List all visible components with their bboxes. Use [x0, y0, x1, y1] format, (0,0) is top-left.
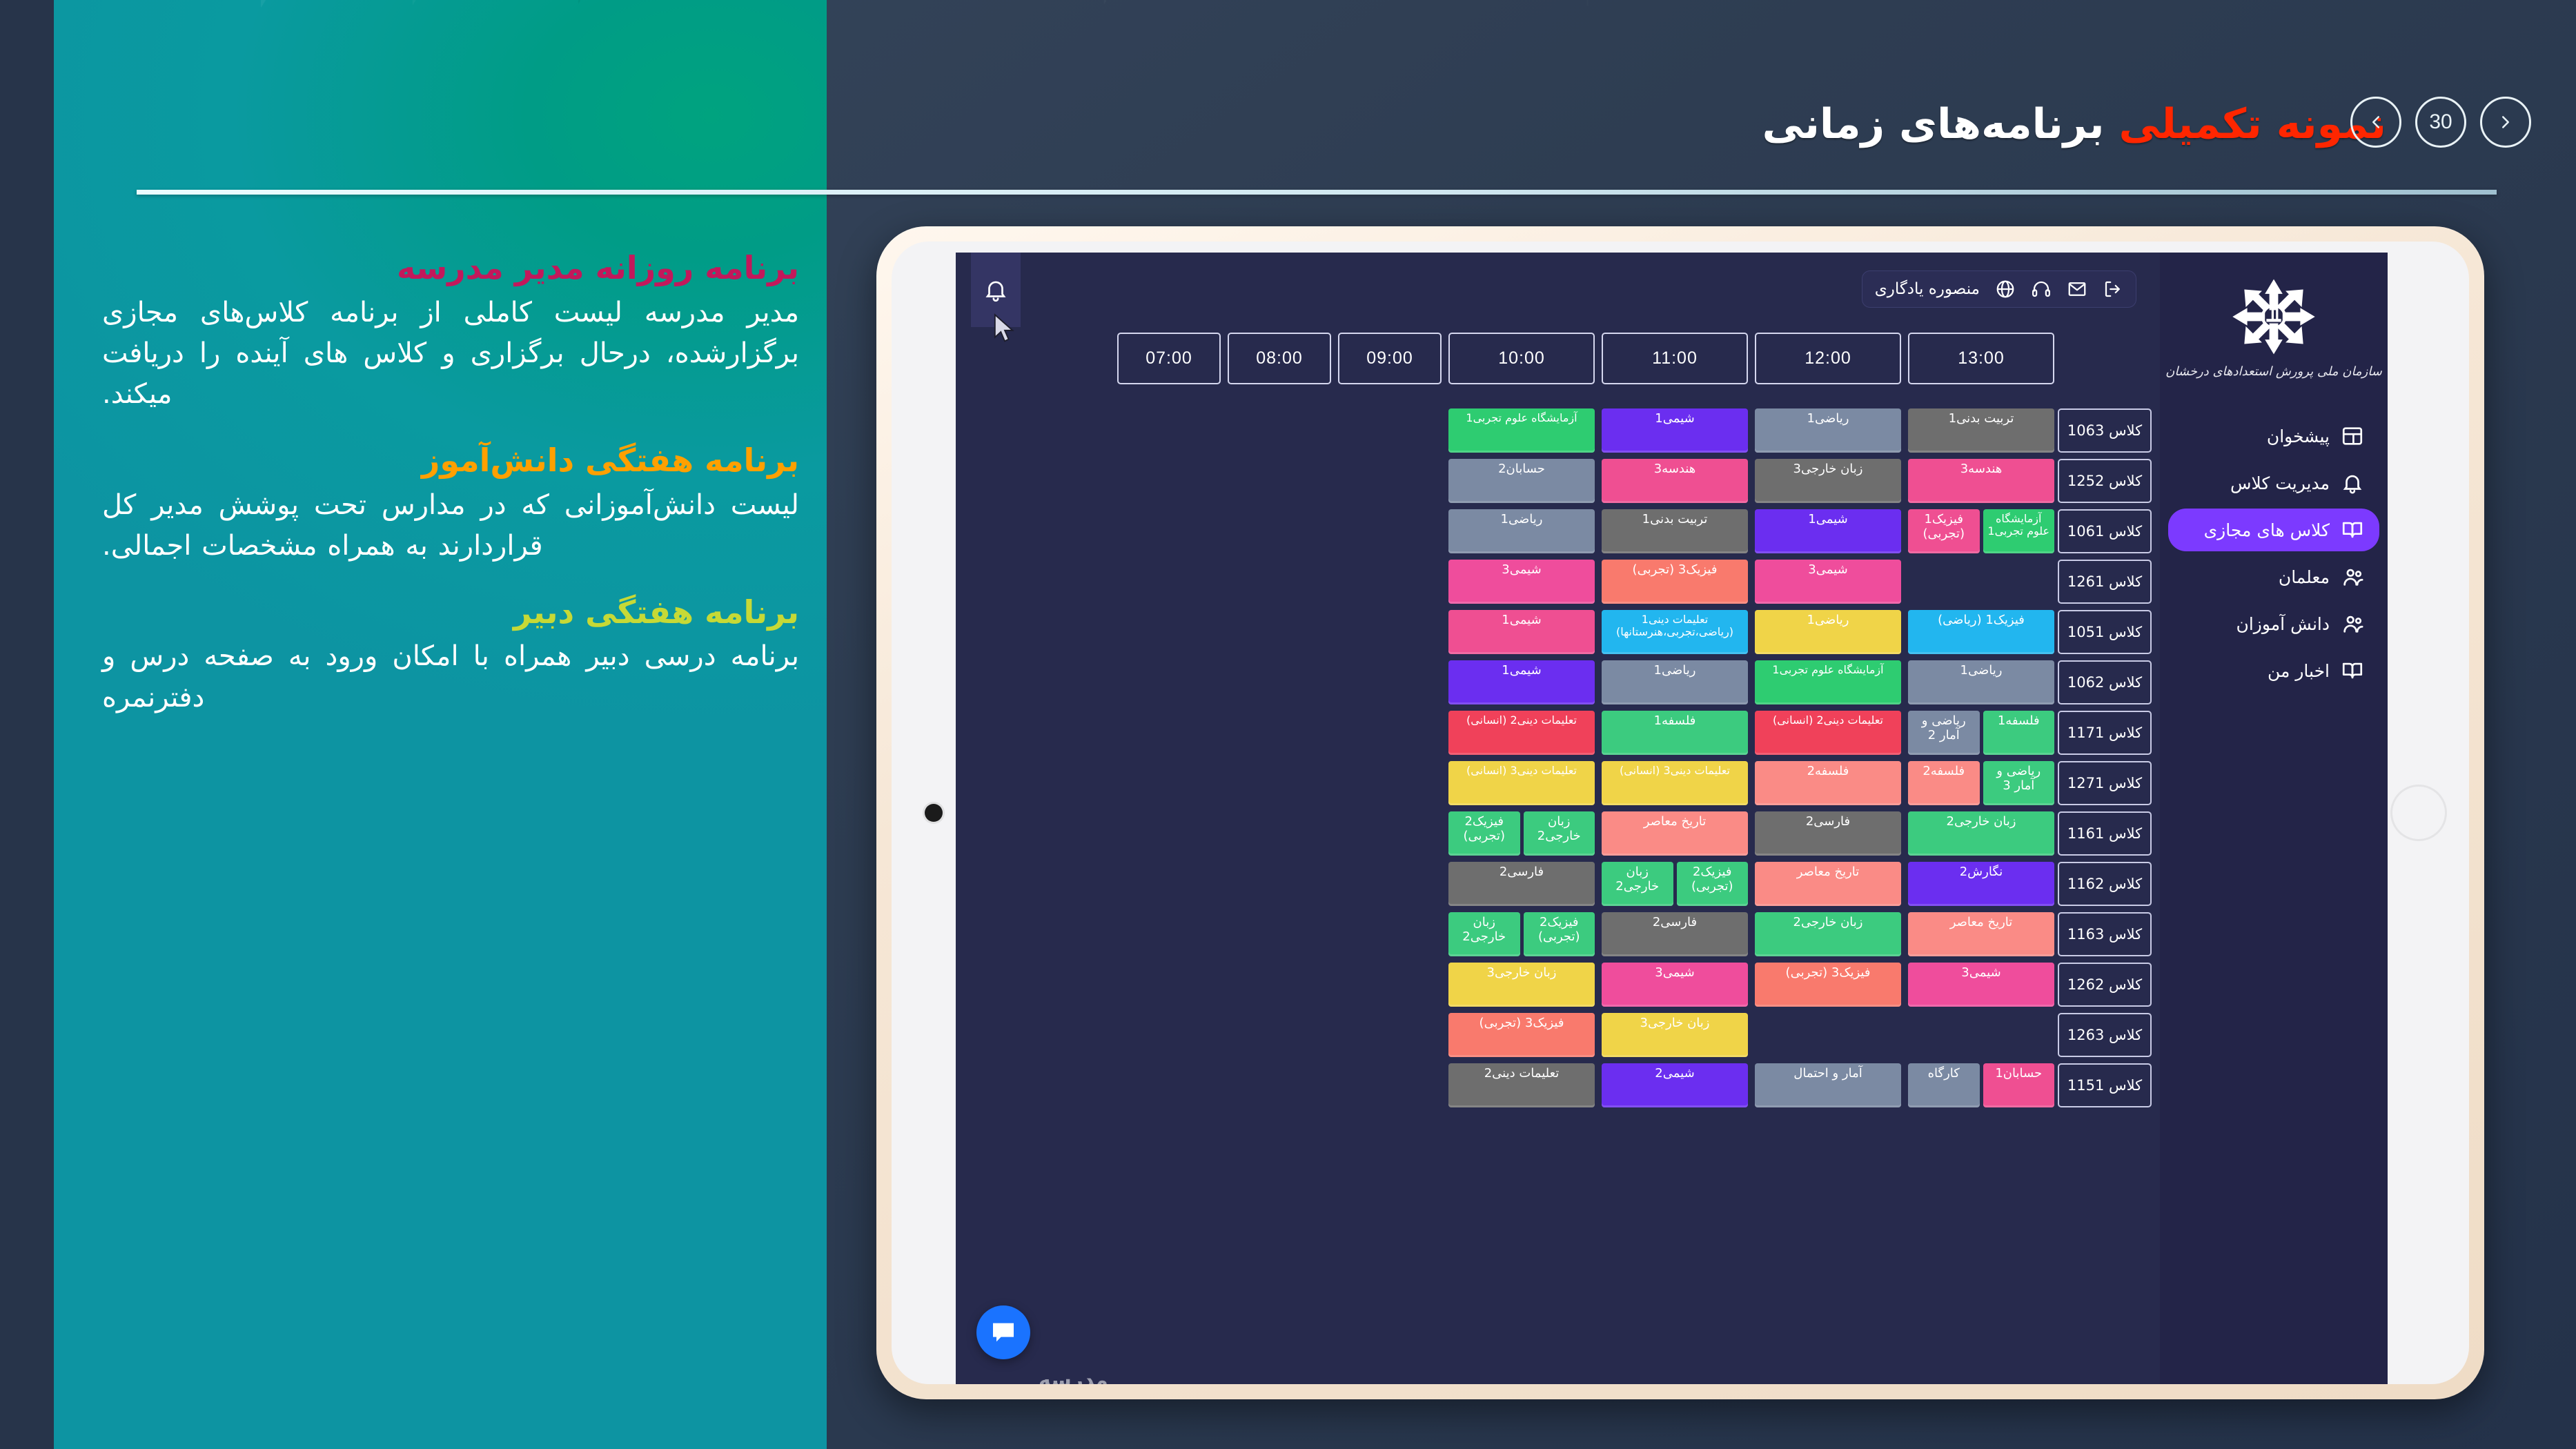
section-body: برنامه درسی دبیر همراه با امکان ورود به … [102, 636, 799, 718]
schedule-row-slot: زبان خارجی3 [1448, 963, 1595, 1007]
schedule-event[interactable]: شیمی2 [1602, 1063, 1748, 1107]
schedule-event[interactable]: تعلیمات دینی1 (ریاضی،تجربی،هنرستانها) [1602, 610, 1748, 654]
schedule-row-slot: هندسه3 [1908, 459, 2054, 503]
schedule-row-slot [1117, 509, 1221, 553]
empty-slot[interactable] [1228, 459, 1331, 503]
title-divider [137, 190, 2497, 195]
sidebar-item-my-news[interactable]: اخبار من [2168, 649, 2379, 692]
schedule-row-slot [1338, 811, 1442, 856]
time-header[interactable]: 10:00 [1448, 333, 1595, 384]
class-number-cell[interactable]: کلاس 1061 [2058, 509, 2152, 553]
schedule-row-slot [1117, 408, 1221, 453]
home-button[interactable] [925, 804, 943, 822]
empty-slot[interactable] [1338, 912, 1442, 956]
schedule-row-slot [1117, 811, 1221, 856]
watermark-text: مدرسه [1039, 1368, 1108, 1384]
schedule-row-slot [1228, 862, 1331, 906]
empty-slot[interactable] [1117, 862, 1221, 906]
empty-slot[interactable] [1228, 560, 1331, 604]
org-logo-block: سازمان ملی پرورش استعدادهای درخشان [2160, 272, 2388, 402]
sidebar-item-label: معلمان [2279, 567, 2330, 587]
section-heading: برنامه هفتگی دانش‌آموز [102, 441, 799, 481]
time-header[interactable]: 11:00 [1602, 333, 1748, 384]
empty-slot[interactable] [1117, 660, 1221, 704]
section-student-weekly: برنامه هفتگی دانش‌آموز لیست دانش‌آموزانی… [102, 441, 799, 566]
schedule-row-slot [1908, 1013, 2054, 1057]
sidebar-item-label: اخبار من [2268, 661, 2330, 681]
schedule-event[interactable]: هندسه3 [1908, 459, 2054, 503]
schedule-event[interactable]: زبان خارجی2 [1448, 912, 1520, 956]
schedule-row-slot: فیزیک3 (تجربی) [1602, 560, 1748, 604]
schedule-row-slot: ریاضی1 [1755, 610, 1901, 654]
schedule-event[interactable]: شیمی3 [1448, 560, 1595, 604]
schedule-row-slot: تعلیمات دینی2 (انسانی) [1448, 711, 1595, 755]
class-number-cell[interactable]: کلاس 1151 [2058, 1063, 2152, 1107]
schedule-event[interactable]: شیمی1 [1602, 408, 1748, 453]
empty-slot[interactable] [1338, 711, 1442, 755]
class-number-cell[interactable]: کلاس 1163 [2058, 912, 2152, 956]
empty-slot[interactable] [1338, 459, 1442, 503]
sidebar-item-label: پیشخوان [2267, 426, 2330, 446]
tablet-device-frame: سازمان ملی پرورش استعدادهای درخشان پیشخو… [876, 226, 2484, 1399]
schedule-row-slot: فلسفه1ریاضی و آمار 2 [1908, 711, 2054, 755]
left-edge-strip [0, 0, 54, 1449]
org-logo-caption: سازمان ملی پرورش استعدادهای درخشان [2160, 364, 2388, 379]
empty-slot[interactable] [1338, 509, 1442, 553]
schedule-row-slot: شیمی3 [1448, 560, 1595, 604]
schedule-event[interactable]: فلسفه1 [1983, 711, 2055, 755]
pagination-controls[interactable]: 30 [2350, 97, 2531, 148]
schedule-row-slot [1117, 459, 1221, 503]
schedule-event[interactable]: فارسی2 [1602, 912, 1748, 956]
schedule-row-slot: فلسفه2 [1755, 761, 1901, 805]
schedule-event[interactable]: تاریخ معاصر [1908, 912, 2054, 956]
org-logo-icon [2230, 276, 2318, 357]
empty-slot[interactable] [1228, 963, 1331, 1007]
sidebar-item-class-management[interactable]: مدیریت کلاس [2168, 462, 2379, 504]
schedule-row-slot [1338, 862, 1442, 906]
time-slot-column: 11:00شیمی1هندسه3تربیت بدنی1فیزیک3 (تجربی… [1598, 333, 1751, 1114]
class-number-cell[interactable]: کلاس 1261 [2058, 560, 2152, 604]
schedule-event[interactable]: زبان خارجی3 [1448, 963, 1595, 1007]
app-topbar: منصوره یادگاری [956, 253, 2160, 319]
schedule-event[interactable]: فارسی2 [1448, 862, 1595, 906]
schedule-row-slot: شیمی1 [1448, 610, 1595, 654]
schedule-row-slot: شیمی3 [1755, 560, 1901, 604]
schedule-event[interactable]: حسابان1 [1983, 1063, 2055, 1107]
schedule-event[interactable]: فارسی2 [1755, 811, 1901, 856]
class-number-cell[interactable]: کلاس 1263 [2058, 1013, 2152, 1057]
empty-slot[interactable] [1228, 408, 1331, 453]
schedule-row-slot: تاریخ معاصر [1908, 912, 2054, 956]
schedule-row-slot: آزمایشگاه علوم تجربی1فیزیک1 (تجربی) [1908, 509, 2054, 553]
chevron-left-icon [2366, 112, 2386, 132]
schedule-row-slot: ریاضی1 [1448, 509, 1595, 553]
empty-slot[interactable] [1228, 761, 1331, 805]
schedule-event[interactable]: ریاضی1 [1908, 660, 2054, 704]
schedule-row-slot [1228, 912, 1331, 956]
schedule-row-slot: زبان خارجی2فیزیک2 (تجربی) [1448, 811, 1595, 856]
section-teacher-weekly: برنامه هفتگی دبیر برنامه درسی دبیر همراه… [102, 593, 799, 718]
schedule-event[interactable]: زبان خارجی3 [1602, 1013, 1748, 1057]
schedule-row-slot: فیزیک1 (ریاضی) [1908, 610, 2054, 654]
schedule-event[interactable]: فیزیک3 (تجربی) [1602, 560, 1748, 604]
schedule-row-slot [1117, 711, 1221, 755]
schedule-row-slot: فلسفه1 [1602, 711, 1748, 755]
schedule-event[interactable]: زبان خارجی2 [1602, 862, 1673, 906]
empty-slot[interactable] [1228, 660, 1331, 704]
schedule-event[interactable]: فیزیک3 (تجربی) [1448, 1013, 1595, 1057]
panel-sections: برنامه روزانه مدیر مدرسه مدیر مدرسه لیست… [54, 248, 827, 745]
people-icon [2341, 565, 2364, 589]
schedule-row-slot: زبان خارجی3 [1755, 459, 1901, 503]
schedule-row-slot: شیمی1 [1602, 408, 1748, 453]
schedule-row-slot: ریاضی1 [1602, 660, 1748, 704]
schedule-row-slot: فیزیک2 (تجربی)زبان خارجی2 [1602, 862, 1748, 906]
schedule-event[interactable]: تعلیمات دینی2 [1448, 1063, 1595, 1107]
class-number-cell[interactable]: کلاس 1162 [2058, 862, 2152, 906]
schedule-row-slot [1228, 1063, 1331, 1107]
sidebar-item-virtual-classes[interactable]: کلاس های مجازی [2168, 509, 2379, 551]
time-header[interactable]: 12:00 [1755, 333, 1901, 384]
prev-page-button[interactable] [2350, 97, 2401, 148]
schedule-row-slot: فارسی2 [1602, 912, 1748, 956]
schedule-row-slot [1117, 862, 1221, 906]
time-slot-column: 09:00 [1335, 333, 1445, 1114]
class-number-cell[interactable]: کلاس 1262 [2058, 963, 2152, 1007]
dashboard-icon [2341, 424, 2364, 448]
schedule-row-slot [1755, 1013, 1901, 1057]
schedule-event[interactable]: تربیت بدنی1 [1602, 509, 1748, 553]
schedule-event[interactable]: ریاضی و آمار 3 [1983, 761, 2055, 805]
schedule-event[interactable]: فلسفه1 [1602, 711, 1748, 755]
schedule-event[interactable]: ریاضی و آمار 2 [1908, 711, 1980, 755]
empty-slot[interactable] [1338, 660, 1442, 704]
schedule-row-slot [1338, 761, 1442, 805]
schedule-row-slot: حسابان1کارگاه [1908, 1063, 2054, 1107]
empty-slot[interactable] [1117, 1013, 1221, 1057]
empty-slot[interactable] [1117, 811, 1221, 856]
mail-icon[interactable] [2067, 279, 2087, 299]
schedule-row-slot: زبان خارجی2 [1755, 912, 1901, 956]
schedule-row-slot: هندسه3 [1602, 459, 1748, 503]
schedule-event[interactable]: شیمی3 [1755, 560, 1901, 604]
schedule-event[interactable]: آمار و احتمال [1755, 1063, 1901, 1107]
schedule-row-slot: ریاضی1 [1755, 408, 1901, 453]
empty-slot[interactable] [1338, 408, 1442, 453]
time-slot-column: 07:00 [1114, 333, 1224, 1114]
schedule-row-slot [1338, 1063, 1442, 1107]
sidebar-item-teachers[interactable]: معلمان [2168, 555, 2379, 598]
user-account-chip[interactable]: منصوره یادگاری [1862, 270, 2136, 308]
empty-slot[interactable] [1338, 1013, 1442, 1057]
schedule-row-slot: نگارش2 [1908, 862, 2054, 906]
schedule-row-slot [1228, 711, 1331, 755]
book-icon [2341, 518, 2364, 542]
user-name: منصوره یادگاری [1875, 280, 1980, 298]
section-manager-daily: برنامه روزانه مدیر مدرسه مدیر مدرسه لیست… [102, 248, 799, 415]
schedule-event[interactable]: حسابان2 [1448, 459, 1595, 503]
section-heading: برنامه روزانه مدیر مدرسه [102, 248, 799, 288]
schedule-row-slot [1117, 610, 1221, 654]
headset-icon[interactable] [2031, 279, 2052, 299]
globe-icon[interactable] [1995, 279, 2016, 299]
schedule-event[interactable]: تعلیمات دینی2 (انسانی) [1448, 711, 1595, 755]
empty-slot[interactable] [1338, 560, 1442, 604]
book-icon [2341, 659, 2364, 682]
schedule-row-slot: تعلیمات دینی2 (انسانی) [1755, 711, 1901, 755]
schedule-event[interactable]: آزمایشگاه علوم تجربی1 [1983, 509, 2055, 553]
empty-slot[interactable] [1908, 560, 2054, 604]
empty-slot[interactable] [1338, 761, 1442, 805]
empty-slot[interactable] [1338, 862, 1442, 906]
schedule-row-slot [1338, 963, 1442, 1007]
empty-slot[interactable] [1338, 963, 1442, 1007]
empty-slot[interactable] [1117, 711, 1221, 755]
schedule-row-slot [1117, 963, 1221, 1007]
slide-stage: برنامه روزانه مدیر مدرسه مدیر مدرسه لیست… [0, 0, 2576, 1449]
schedule-event[interactable]: ریاضی1 [1755, 610, 1901, 654]
schedule-event[interactable]: شیمی3 [1602, 963, 1748, 1007]
schedule-row-slot [1228, 761, 1331, 805]
logout-icon[interactable] [2103, 279, 2123, 299]
schedule-row-slot [1117, 1013, 1221, 1057]
sidebar-nav-list: پیشخوان مدیریت کلاس کلاس [2160, 415, 2388, 692]
empty-slot[interactable] [1117, 560, 1221, 604]
schedule-row-slot: زبان خارجی3 [1602, 1013, 1748, 1057]
schedule-row-slot [1117, 1063, 1221, 1107]
class-number-cell[interactable]: کلاس 1161 [2058, 811, 2152, 856]
schedule-event[interactable]: نگارش2 [1908, 862, 2054, 906]
schedule-row-slot [1228, 1013, 1331, 1057]
page-number: 30 [2429, 112, 2452, 132]
schedule-row-slot: شیمی3 [1908, 963, 2054, 1007]
schedule-panel[interactable]: کلاس 1063کلاس 1252کلاس 1061کلاس 1261کلاس… [956, 333, 2160, 1384]
schedule-row-slot [1228, 408, 1331, 453]
sidebar-item-label: کلاس های مجازی [2204, 520, 2330, 540]
time-header[interactable]: 07:00 [1117, 333, 1221, 384]
schedule-event[interactable]: ریاضی1 [1448, 509, 1595, 553]
section-body: مدیر مدرسه لیست کاملی از برنامه کلاس‌های… [102, 293, 799, 415]
empty-slot[interactable] [1117, 963, 1221, 1007]
schedule-event[interactable]: هندسه3 [1602, 459, 1748, 503]
schedule-event[interactable]: تعلیمات دینی3 (انسانی) [1602, 761, 1748, 805]
schedule-event[interactable]: شیمی1 [1755, 509, 1901, 553]
schedule-row-slot [1117, 761, 1221, 805]
schedule-row-slot [1228, 811, 1331, 856]
time-header[interactable]: 13:00 [1908, 333, 2054, 384]
schedule-row-slot: تعلیمات دینی3 (انسانی) [1448, 761, 1595, 805]
schedule-row-slot: تربیت بدنی1 [1908, 408, 2054, 453]
schedule-row-slot: تعلیمات دینی2 [1448, 1063, 1595, 1107]
empty-slot[interactable] [1755, 1013, 1901, 1057]
schedule-row-slot [1338, 711, 1442, 755]
schedule-event[interactable]: تاریخ معاصر [1755, 862, 1901, 906]
schedule-row-slot: آزمایشگاه علوم تجربی1 [1448, 408, 1595, 453]
schedule-event[interactable]: آزمایشگاه علوم تجربی1 [1448, 408, 1595, 453]
empty-slot[interactable] [1228, 509, 1331, 553]
schedule-row-slot [1908, 560, 2054, 604]
schedule-row-slot: آزمایشگاه علوم تجربی1 [1755, 660, 1901, 704]
empty-slot[interactable] [1228, 811, 1331, 856]
page-number-badge: 30 [2415, 97, 2466, 148]
schedule-row-slot [1228, 963, 1331, 1007]
empty-slot[interactable] [1228, 1063, 1331, 1107]
sidebar-item-label: دانش آموزان [2236, 614, 2330, 634]
schedule-event[interactable]: زبان خارجی2 [1908, 811, 2054, 856]
schedule-row-slot [1338, 660, 1442, 704]
empty-slot[interactable] [1338, 610, 1442, 654]
schedule-row-slot: تعلیمات دینی1 (ریاضی،تجربی،هنرستانها) [1602, 610, 1748, 654]
empty-slot[interactable] [1338, 811, 1442, 856]
schedule-event[interactable]: تربیت بدنی1 [1908, 408, 2054, 453]
section-body: لیست دانش‌آموزانی که در مدارس تحت پوشش م… [102, 485, 799, 566]
app-sidebar: سازمان ملی پرورش استعدادهای درخشان پیشخو… [2160, 253, 2388, 1384]
class-number-cell[interactable]: کلاس 1271 [2058, 761, 2152, 805]
empty-slot[interactable] [1117, 761, 1221, 805]
time-slot-column: 13:00تربیت بدنی1هندسه3آزمایشگاه علوم تجر… [1905, 333, 2058, 1114]
sidebar-item-label: مدیریت کلاس [2230, 473, 2330, 493]
schedule-event[interactable]: تعلیمات دینی2 (انسانی) [1755, 711, 1901, 755]
class-number-cell[interactable]: کلاس 1062 [2058, 660, 2152, 704]
schedule-row-slot: فیزیک3 (تجربی) [1448, 1013, 1595, 1057]
schedule-row-slot: شیمی1 [1755, 509, 1901, 553]
empty-slot[interactable] [1228, 862, 1331, 906]
schedule-row-slot: شیمی2 [1602, 1063, 1748, 1107]
schedule-row-slot: فیزیک3 (تجربی) [1755, 963, 1901, 1007]
schedule-row-slot [1338, 408, 1442, 453]
class-number-cell[interactable]: کلاس 1252 [2058, 459, 2152, 503]
next-page-button[interactable] [2480, 97, 2531, 148]
schedule-row-slot: فیزیک2 (تجربی)زبان خارجی2 [1448, 912, 1595, 956]
schedule-event[interactable]: فیزیک3 (تجربی) [1755, 963, 1901, 1007]
schedule-row-slot: شیمی1 [1448, 660, 1595, 704]
schedule-row-slot: تعلیمات دینی3 (انسانی) [1602, 761, 1748, 805]
time-slot-column: 10:00آزمایشگاه علوم تجربی1حسابان2ریاضی1ش… [1445, 333, 1598, 1114]
schedule-row-slot [1228, 660, 1331, 704]
schedule-event[interactable]: شیمی1 [1448, 660, 1595, 704]
app-viewport: سازمان ملی پرورش استعدادهای درخشان پیشخو… [956, 253, 2388, 1384]
empty-slot[interactable] [1117, 1063, 1221, 1107]
bell-icon [2341, 471, 2364, 495]
schedule-row-slot: تاریخ معاصر [1755, 862, 1901, 906]
left-content-panel: برنامه روزانه مدیر مدرسه مدیر مدرسه لیست… [54, 0, 827, 1449]
class-number-cell[interactable]: کلاس 1171 [2058, 711, 2152, 755]
empty-slot[interactable] [1338, 1063, 1442, 1107]
people-icon [2341, 612, 2364, 635]
empty-slot[interactable] [1908, 1013, 2054, 1057]
schedule-event[interactable]: زبان خارجی2 [1755, 912, 1901, 956]
schedule-event[interactable]: آزمایشگاه علوم تجربی1 [1755, 660, 1901, 704]
schedule-event[interactable]: فیزیک2 (تجربی) [1677, 862, 1749, 906]
schedule-event[interactable]: ریاضی1 [1602, 660, 1748, 704]
schedule-row-slot [1338, 912, 1442, 956]
class-number-cell[interactable]: کلاس 1051 [2058, 610, 2152, 654]
schedule-event[interactable]: شیمی1 [1448, 610, 1595, 654]
front-camera [2390, 785, 2447, 841]
empty-slot[interactable] [1117, 509, 1221, 553]
schedule-event[interactable]: فلسفه2 [1908, 761, 1980, 805]
schedule-row-slot [1117, 912, 1221, 956]
class-number-cell[interactable]: کلاس 1063 [2058, 408, 2152, 453]
bell-icon [983, 277, 1009, 303]
schedule-row-slot [1338, 560, 1442, 604]
schedule-row-slot [1338, 459, 1442, 503]
schedule-row-slot: ریاضی و آمار 3فلسفه2 [1908, 761, 2054, 805]
schedule-event[interactable]: فیزیک1 (تجربی) [1908, 509, 1980, 553]
schedule-event[interactable]: ریاضی1 [1755, 408, 1901, 453]
schedule-row-slot [1228, 560, 1331, 604]
schedule-row-slot: آمار و احتمال [1755, 1063, 1901, 1107]
empty-slot[interactable] [1228, 912, 1331, 956]
schedule-row-slot [1338, 1013, 1442, 1057]
schedule-row-slot [1228, 509, 1331, 553]
schedule-event[interactable]: فلسفه2 [1755, 761, 1901, 805]
class-number-column: کلاس 1063کلاس 1252کلاس 1061کلاس 1261کلاس… [2058, 333, 2152, 1114]
empty-slot[interactable] [1117, 912, 1221, 956]
schedule-event[interactable]: تاریخ معاصر [1602, 811, 1748, 856]
time-header[interactable]: 09:00 [1338, 333, 1442, 384]
empty-slot[interactable] [1117, 459, 1221, 503]
schedule-event[interactable]: شیمی3 [1908, 963, 2054, 1007]
tablet-screen: سازمان ملی پرورش استعدادهای درخشان پیشخو… [892, 241, 2469, 1384]
section-heading: برنامه هفتگی دبیر [102, 593, 799, 633]
empty-slot[interactable] [1228, 610, 1331, 654]
schedule-row-slot: تاریخ معاصر [1602, 811, 1748, 856]
page-title-highlight: نمونه تکمیلی [2118, 100, 2386, 148]
schedule-row-slot [1338, 610, 1442, 654]
schedule-row-slot [1338, 509, 1442, 553]
schedule-event[interactable]: زبان خارجی3 [1755, 459, 1901, 503]
page-title-rest: برنامه‌های زمانی [1762, 100, 2105, 148]
schedule-row-slot: تربیت بدنی1 [1602, 509, 1748, 553]
empty-slot[interactable] [1228, 1013, 1331, 1057]
schedule-event[interactable]: کارگاه [1908, 1063, 1980, 1107]
schedule-grid: کلاس 1063کلاس 1252کلاس 1061کلاس 1261کلاس… [960, 333, 2152, 1114]
schedule-row-slot [1228, 459, 1331, 503]
schedule-row-slot [1228, 610, 1331, 654]
schedule-row-slot: زبان خارجی2 [1908, 811, 2054, 856]
schedule-row-slot [1117, 560, 1221, 604]
sidebar-item-dashboard[interactable]: پیشخوان [2168, 415, 2379, 457]
time-header[interactable]: 08:00 [1228, 333, 1331, 384]
schedule-row-slot: فارسی2 [1755, 811, 1901, 856]
slide-title-wrap: نمونه تکمیلی برنامه‌های زمانی [827, 83, 2435, 166]
empty-slot[interactable] [1228, 711, 1331, 755]
schedule-row-slot: شیمی3 [1602, 963, 1748, 1007]
schedule-row-slot: فارسی2 [1448, 862, 1595, 906]
schedule-event[interactable]: فیزیک2 (تجربی) [1448, 811, 1520, 856]
time-slot-column: 08:00 [1224, 333, 1335, 1114]
time-slot-column: 12:00ریاضی1زبان خارجی3شیمی1شیمی3ریاضی1آز… [1751, 333, 1905, 1114]
empty-slot[interactable] [1117, 408, 1221, 453]
schedule-row-slot: ریاضی1 [1908, 660, 2054, 704]
chat-icon [990, 1319, 1017, 1346]
sidebar-item-students[interactable]: دانش آموزان [2168, 602, 2379, 645]
chevron-right-icon [2495, 112, 2516, 132]
page-title: نمونه تکمیلی برنامه‌های زمانی [1762, 100, 2435, 148]
schedule-event[interactable]: تعلیمات دینی3 (انسانی) [1448, 761, 1595, 805]
schedule-event[interactable]: زبان خارجی2 [1524, 811, 1595, 856]
schedule-row-slot [1117, 660, 1221, 704]
schedule-event[interactable]: فیزیک1 (ریاضی) [1908, 610, 2054, 654]
chat-support-button[interactable] [976, 1305, 1030, 1359]
schedule-event[interactable]: فیزیک2 (تجربی) [1524, 912, 1595, 956]
schedule-row-slot: حسابان2 [1448, 459, 1595, 503]
empty-slot[interactable] [1117, 610, 1221, 654]
